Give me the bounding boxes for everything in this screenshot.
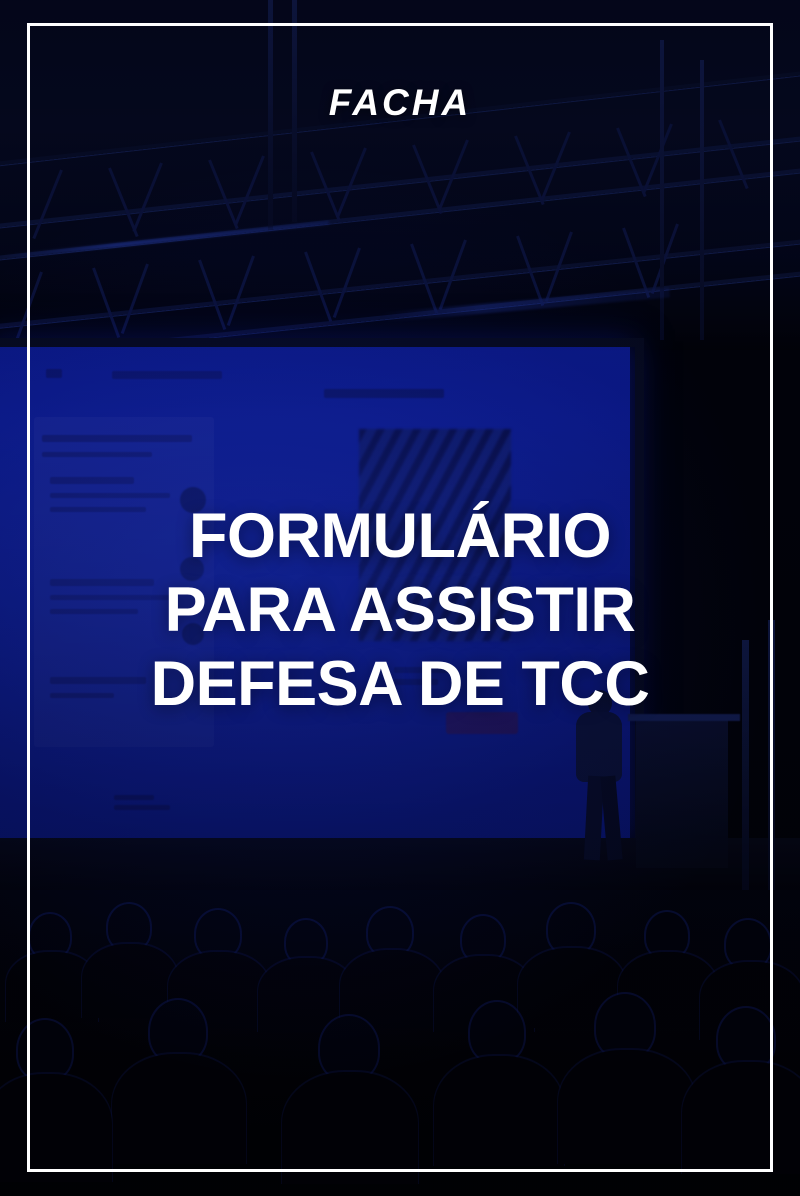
slide-text-line bbox=[114, 795, 154, 800]
speaker-leg bbox=[600, 776, 622, 861]
audience-head bbox=[196, 910, 240, 958]
headline-line-1: FORMULÁRIO bbox=[70, 499, 730, 573]
slide-text-line bbox=[112, 371, 222, 379]
poster-canvas: FACHA FORMULÁRIO PARA ASSISTIR DEFESA DE… bbox=[0, 0, 800, 1196]
slide-text-line bbox=[46, 369, 62, 378]
headline-line-2: PARA ASSISTIR bbox=[70, 573, 730, 647]
slide-text-line bbox=[50, 493, 170, 498]
stage-rig-pole bbox=[768, 620, 775, 890]
slide-caption-text bbox=[324, 389, 444, 398]
hall-ceiling bbox=[0, 0, 800, 350]
audience-head bbox=[320, 1016, 378, 1080]
lectern bbox=[636, 718, 728, 868]
audience-head bbox=[470, 1002, 524, 1062]
speaker-body bbox=[576, 712, 622, 782]
audience-silhouettes bbox=[0, 890, 800, 1196]
audience-head bbox=[548, 904, 594, 954]
audience-shoulders bbox=[112, 1054, 246, 1164]
audience-head bbox=[368, 908, 412, 956]
audience-head bbox=[18, 1020, 72, 1080]
audience-shoulders bbox=[282, 1072, 418, 1184]
audience-head bbox=[596, 994, 654, 1058]
brand-title: FACHA bbox=[0, 84, 800, 121]
audience-shoulders bbox=[434, 1056, 564, 1166]
stage-rig-pole bbox=[742, 640, 749, 890]
headline: FORMULÁRIO PARA ASSISTIR DEFESA DE TCC bbox=[70, 499, 730, 721]
slide-text-line bbox=[42, 435, 192, 442]
headline-line-3: DEFESA DE TCC bbox=[70, 647, 730, 721]
audience-shoulders bbox=[682, 1062, 800, 1174]
audience-shoulders bbox=[0, 1074, 112, 1182]
audience-head bbox=[726, 920, 770, 968]
audience-head bbox=[718, 1008, 774, 1070]
slide-text-line bbox=[50, 477, 134, 484]
slide-text-line bbox=[114, 805, 170, 810]
audience-head bbox=[150, 1000, 206, 1062]
audience-shoulders bbox=[558, 1050, 696, 1164]
slide-text-line bbox=[42, 452, 152, 457]
